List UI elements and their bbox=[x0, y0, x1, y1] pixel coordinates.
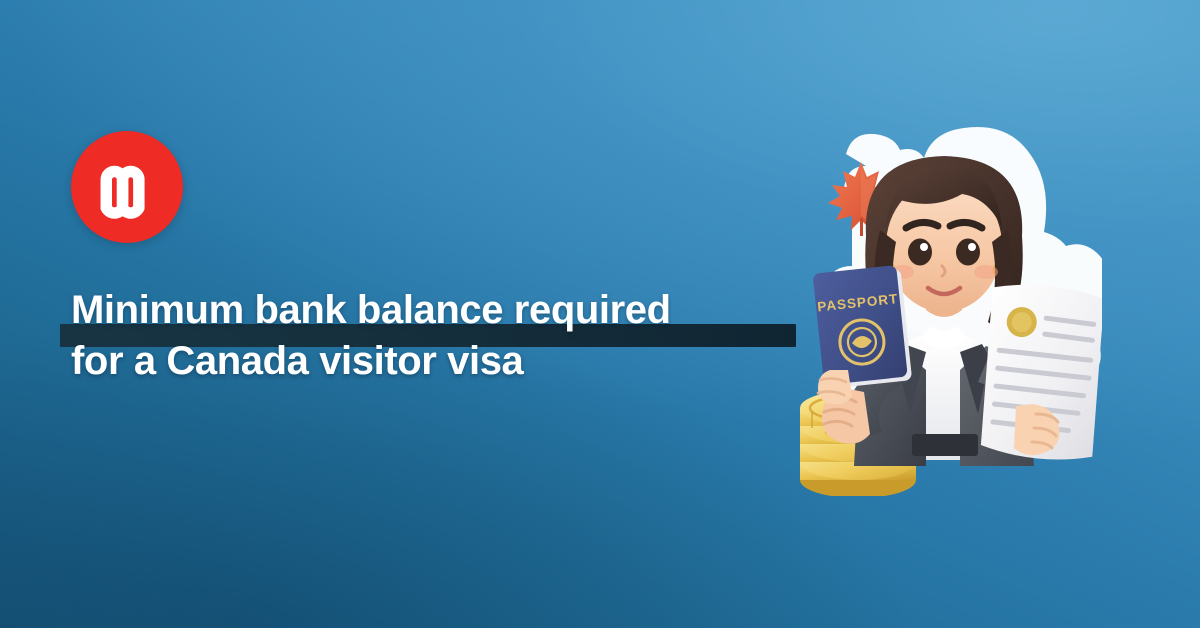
banner-canvas: Minimum bank balance required for a Cana… bbox=[0, 0, 1200, 628]
headline-line-1: Minimum bank balance required bbox=[60, 286, 840, 335]
headline-line-2: for a Canada visitor visa bbox=[60, 337, 840, 386]
w-monogram-logo-icon bbox=[90, 150, 164, 224]
brand-logo[interactable] bbox=[71, 131, 183, 243]
headline-line-1-text: Minimum bank balance required bbox=[71, 288, 671, 332]
headline-line-2-text: for a Canada visitor visa bbox=[71, 339, 523, 383]
headline-block: Minimum bank balance required for a Cana… bbox=[60, 286, 840, 386]
